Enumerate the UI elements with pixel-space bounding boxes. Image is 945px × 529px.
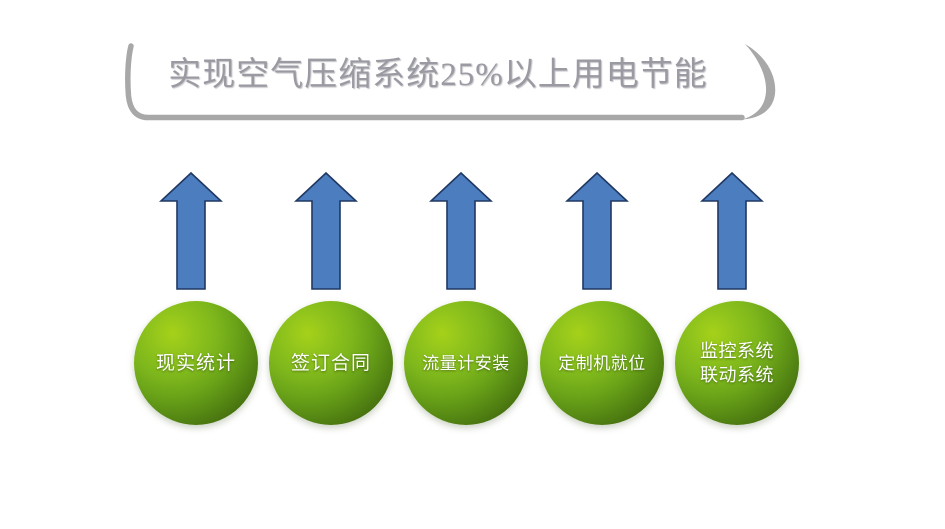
process-node-3-label: 流量计安装 xyxy=(418,351,514,376)
process-node-1[interactable]: 现实统计 xyxy=(134,301,258,425)
arrow-up-3 xyxy=(429,171,493,291)
process-node-5[interactable]: 监控系统 联动系统 xyxy=(675,301,799,425)
process-node-2[interactable]: 签订合同 xyxy=(269,301,393,425)
process-node-4[interactable]: 定制机就位 xyxy=(540,301,664,425)
arrow-up-2 xyxy=(294,171,358,291)
title-banner: 实现空气压缩系统25%以上用电节能 xyxy=(0,0,945,150)
slide-canvas: 实现空气压缩系统25%以上用电节能 现实统计 签订合同 流量计安装 定制机 xyxy=(0,0,945,529)
arrow-up-4 xyxy=(565,171,629,291)
process-node-1-label: 现实统计 xyxy=(152,351,240,376)
arrow-up-1 xyxy=(159,171,223,291)
process-node-3[interactable]: 流量计安装 xyxy=(404,301,528,425)
page-title: 实现空气压缩系统25%以上用电节能 xyxy=(128,44,748,106)
process-node-5-label: 监控系统 联动系统 xyxy=(696,339,778,387)
process-node-4-label: 定制机就位 xyxy=(554,351,650,376)
arrow-up-5 xyxy=(700,171,764,291)
process-node-2-label: 签订合同 xyxy=(287,351,375,376)
